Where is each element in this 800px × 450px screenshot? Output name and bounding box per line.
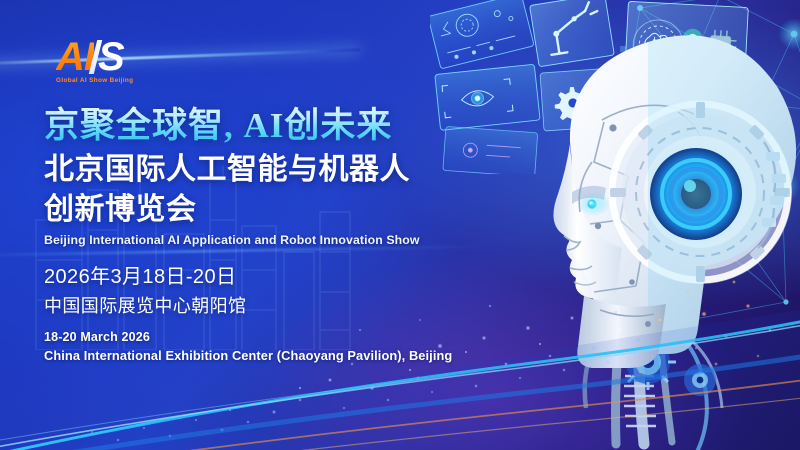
bokeh-dot <box>725 93 739 107</box>
laptop-icon <box>685 114 749 165</box>
chip-icon <box>703 29 737 63</box>
data-panel-icon <box>437 3 519 60</box>
robot-lens-mechanism <box>608 100 792 284</box>
gear-icon <box>586 88 615 117</box>
event-venue-cn: 中国国际展览中心朝阳馆 <box>44 292 514 318</box>
gear-icon <box>554 86 593 125</box>
robot-jaw-plate <box>577 296 666 368</box>
event-banner: AIS Global AI Show Beijing 京聚全球智, AI创未来 … <box>0 0 800 450</box>
bokeh-dot <box>647 113 657 123</box>
robot-arm-icon <box>544 1 603 55</box>
event-name-en: Beijing International AI Application and… <box>44 233 514 247</box>
neck-gear-icon <box>620 334 716 396</box>
banner-copy-block: 京聚全球智, AI创未来 北京国际人工智能与机器人 创新博览会 Beijing … <box>44 104 514 363</box>
event-date-cn: 2026年3月18日-20日 <box>44 260 514 289</box>
logo-wordmark: AIS <box>56 36 186 76</box>
ais-logo[interactable]: AIS Global AI Show Beijing <box>56 36 186 92</box>
event-name-cn-line1: 北京国际人工智能与机器人 <box>44 152 514 188</box>
event-venue-en: China International Exhibition Center (C… <box>44 348 514 363</box>
robot-head-shell <box>553 24 800 450</box>
event-name-cn-line2: 创新博览会 <box>44 192 514 228</box>
brain-chip-icon <box>632 19 685 72</box>
robot-neck-cables <box>585 320 722 450</box>
event-date-en: 18-20 March 2026 <box>44 330 514 344</box>
headline-slogan: 京聚全球智, AI创未来 <box>44 104 514 148</box>
